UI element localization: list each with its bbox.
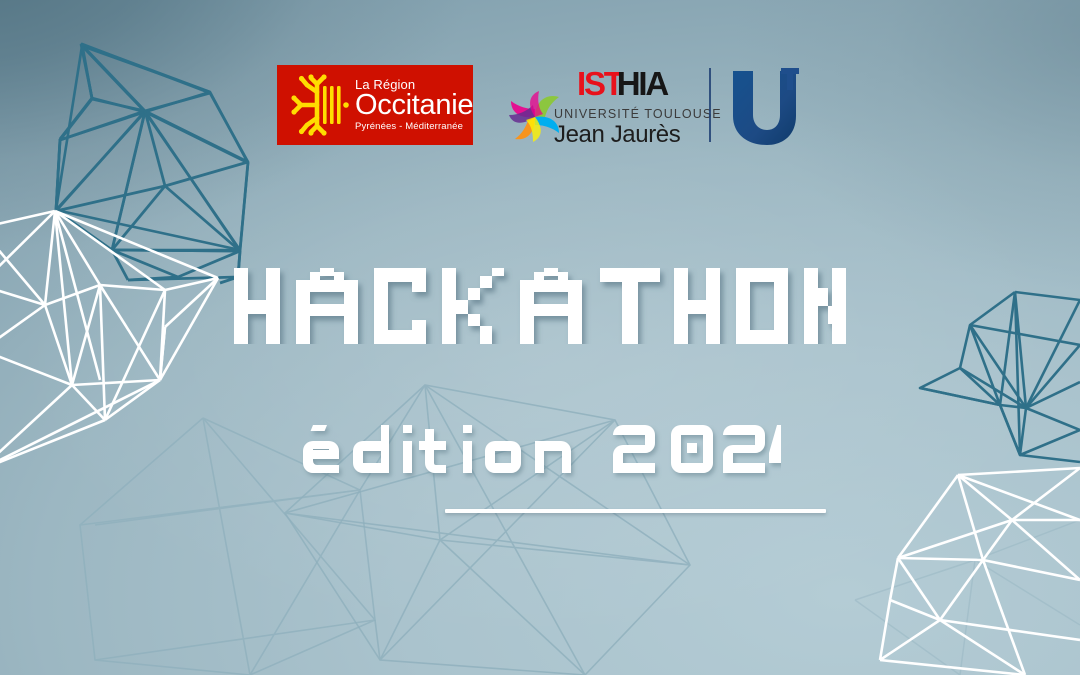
network-cluster-teal-main: [55, 44, 248, 283]
network-cluster-faint-left: [80, 418, 375, 675]
network-cluster-white-right: [880, 468, 1080, 675]
ut2j-line1: UNIVERSITÉ TOULOUSE: [554, 107, 722, 121]
isthia-part-black: HIA: [617, 65, 667, 102]
ut2j-line2: Jean Jaurès: [554, 121, 680, 149]
network-cluster-teal-right: [920, 292, 1080, 462]
ut-monogram-icon: [725, 65, 803, 147]
logo-universite-toulouse[interactable]: [725, 61, 803, 149]
logo-region-occitanie[interactable]: La Région Occitanie Pyrénées - Méditerra…: [277, 65, 473, 145]
logo-ut2j-isthia[interactable]: ISTHIA UNIVERSITÉ TOULOUSE Jean Jaurès: [509, 61, 695, 149]
isthia-wordmark: ISTHIA: [577, 67, 667, 100]
isthia-part-red: IST: [577, 65, 622, 102]
network-cluster-faint-center: [285, 385, 690, 675]
logo-divider: [709, 68, 711, 142]
logo-group-universite[interactable]: ISTHIA UNIVERSITÉ TOULOUSE Jean Jaurès: [509, 61, 803, 149]
occitan-cross-icon: [287, 72, 349, 138]
occitanie-wordmark: La Région Occitanie Pyrénées - Méditerra…: [355, 78, 473, 131]
hackathon-poster: La Région Occitanie Pyrénées - Méditerra…: [0, 0, 1080, 675]
occitanie-line3: Pyrénées - Méditerranée: [355, 122, 473, 132]
occitanie-line2: Occitanie: [355, 92, 473, 120]
title-underline-rule: [445, 509, 826, 513]
network-cluster-faint-right: [855, 520, 1080, 675]
